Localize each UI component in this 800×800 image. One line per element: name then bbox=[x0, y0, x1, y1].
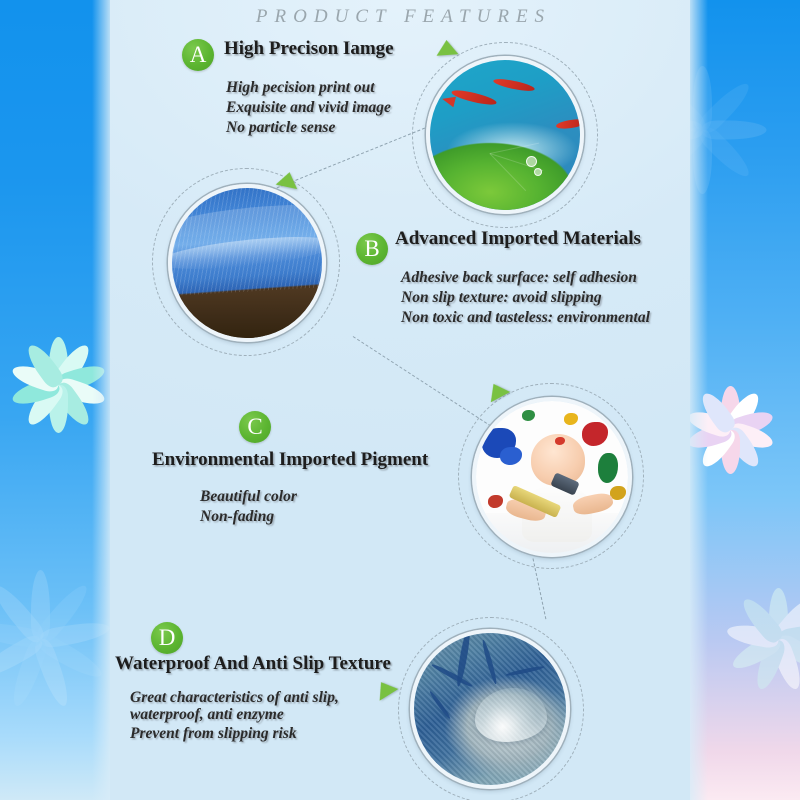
feature-body-a-line-2: Exquisite and vivid image bbox=[226, 98, 391, 118]
content-panel: PRODUCT FEATURES A High Precison Iamge H… bbox=[110, 0, 690, 800]
feature-body-b-line-2: Non slip texture: avoid slipping bbox=[401, 288, 602, 308]
feature-title-d: Waterproof And Anti Slip Texture bbox=[115, 653, 391, 675]
feature-image-a-wrap bbox=[412, 42, 598, 228]
feature-body-c-line-1: Beautiful color bbox=[200, 487, 297, 507]
right-decorative-border bbox=[682, 0, 800, 800]
blue-fabric-texture-photo bbox=[168, 184, 326, 342]
feature-body-d-line-3: Prevent from slipping risk bbox=[130, 724, 297, 744]
feature-title-b: Advanced Imported Materials bbox=[395, 228, 641, 250]
feature-badge-a: A bbox=[182, 39, 214, 71]
feature-body-d-line-2: waterproof, anti enzyme bbox=[130, 705, 284, 725]
left-decorative-border bbox=[0, 0, 118, 800]
feature-body-b-line-3: Non toxic and tasteless: environmental bbox=[401, 308, 650, 328]
product-features-infographic: PRODUCT FEATURES A High Precison Iamge H… bbox=[0, 0, 800, 800]
feature-body-a-line-1: High pecision print out bbox=[226, 78, 375, 98]
feature-badge-c: C bbox=[239, 411, 271, 443]
koi-fish-on-water-photo bbox=[426, 56, 584, 214]
feature-body-c-line-2: Non-fading bbox=[200, 507, 274, 527]
feature-image-c-wrap bbox=[458, 383, 644, 569]
feature-body-a-line-3: No particle sense bbox=[226, 118, 335, 138]
feature-badge-d: D bbox=[151, 622, 183, 654]
green-triangle-arrow-icon bbox=[436, 39, 459, 55]
feature-image-d-wrap bbox=[398, 617, 584, 800]
feature-image-b-wrap bbox=[152, 168, 340, 356]
baby-with-paintbrush-photo bbox=[472, 397, 632, 557]
feature-title-c: Environmental Imported Pigment bbox=[152, 449, 428, 471]
page-title: PRODUCT FEATURES bbox=[110, 6, 690, 28]
feature-badge-b: B bbox=[356, 233, 388, 265]
water-droplet-texture-photo bbox=[410, 629, 570, 789]
feature-title-a: High Precison Iamge bbox=[224, 38, 394, 60]
feature-body-b-line-1: Adhesive back surface: self adhesion bbox=[401, 268, 637, 288]
